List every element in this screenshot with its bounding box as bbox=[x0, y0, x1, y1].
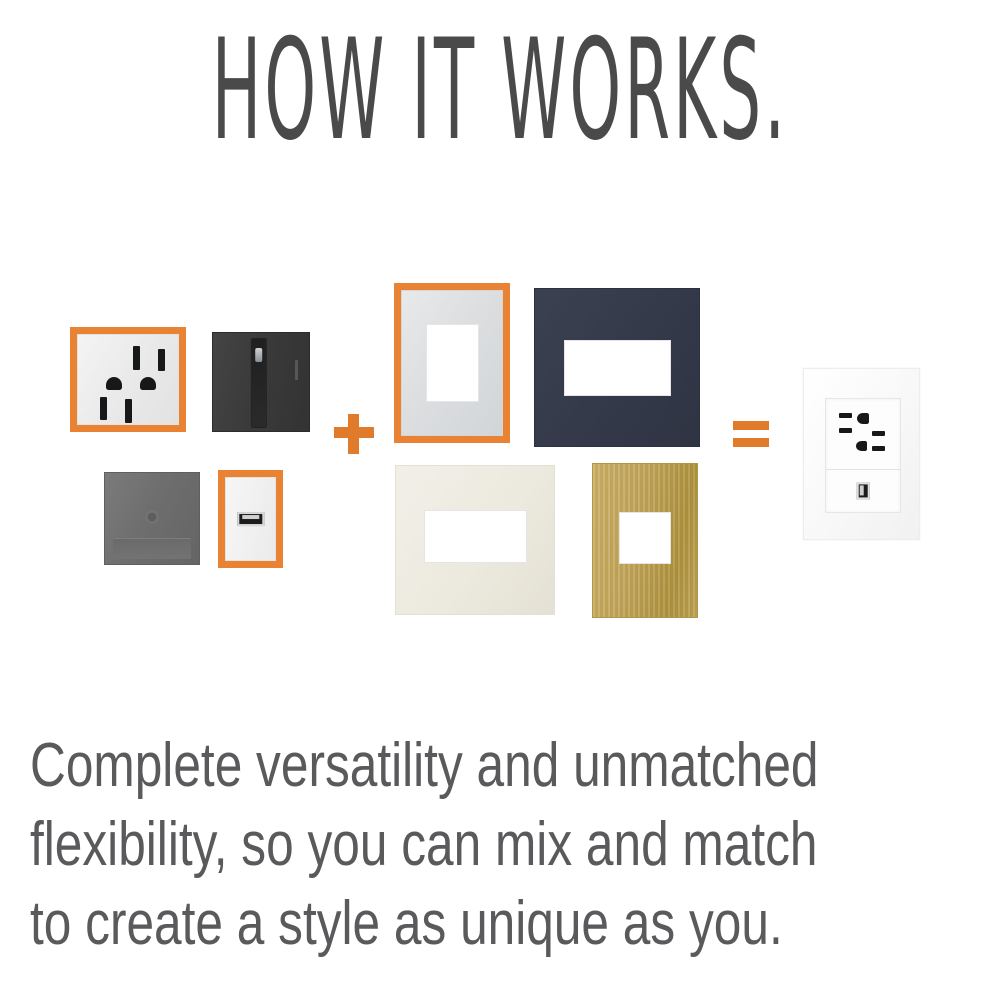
outlet-slot bbox=[839, 428, 852, 433]
module-well bbox=[825, 398, 901, 513]
device-paddle-switch-gray[interactable] bbox=[104, 472, 200, 565]
outlet-ground-pin bbox=[106, 377, 122, 390]
plate-cutout bbox=[424, 510, 527, 563]
device-duplex-outlet-white[interactable] bbox=[70, 327, 186, 432]
equals-operator-icon: = bbox=[733, 421, 769, 449]
device-usb-outlet-white[interactable] bbox=[218, 470, 283, 568]
how-it-works-infographic: HOW IT WORKS. bbox=[0, 0, 1000, 1000]
plate-cutout bbox=[564, 340, 671, 396]
outlet-slot bbox=[158, 349, 165, 371]
wall-plate-ivory[interactable] bbox=[395, 465, 555, 615]
caption-line-3: to create a style as unique as you. bbox=[30, 884, 786, 963]
result-usb-module bbox=[826, 469, 900, 512]
outlet-ground-pin bbox=[856, 441, 867, 451]
dimmer-indicator-icon bbox=[295, 360, 298, 380]
outlet-slot bbox=[100, 397, 107, 420]
caption-text: Complete versatility and unmatched flexi… bbox=[30, 726, 786, 963]
page-title: HOW IT WORKS. bbox=[190, 20, 810, 159]
plate-cutout bbox=[619, 512, 671, 564]
usb-port-icon bbox=[237, 512, 264, 526]
usb-port-icon bbox=[857, 482, 870, 499]
switch-rocker[interactable] bbox=[113, 538, 192, 559]
outlet-slot bbox=[839, 413, 852, 418]
outlet-slot bbox=[872, 431, 885, 436]
dimmer-track[interactable] bbox=[251, 338, 267, 428]
plate-face bbox=[401, 290, 503, 436]
outlet-slot bbox=[872, 446, 885, 451]
plus-operator-icon: + bbox=[332, 412, 376, 456]
plate-cutout bbox=[426, 324, 479, 402]
outlet-face bbox=[77, 334, 179, 425]
outlet-slot bbox=[133, 346, 140, 370]
outlet-ground-pin bbox=[857, 413, 869, 424]
dimmer-paddle[interactable] bbox=[255, 348, 262, 362]
caption-line-2: flexibility, so you can mix and match bbox=[30, 805, 786, 884]
caption-line-1: Complete versatility and unmatched bbox=[30, 726, 786, 805]
wall-plate-navy[interactable] bbox=[534, 288, 700, 447]
wall-plate-brass[interactable] bbox=[592, 463, 698, 618]
led-indicator-icon bbox=[148, 512, 157, 521]
wall-plate-white[interactable] bbox=[394, 283, 510, 443]
usb-module-face bbox=[225, 477, 276, 561]
outlet-ground-pin bbox=[140, 377, 156, 390]
outlet-slot bbox=[125, 399, 132, 423]
assembled-outlet-with-usb[interactable] bbox=[803, 368, 920, 540]
result-outlet-module bbox=[826, 399, 900, 469]
device-dimmer-switch-dark[interactable] bbox=[212, 332, 310, 432]
